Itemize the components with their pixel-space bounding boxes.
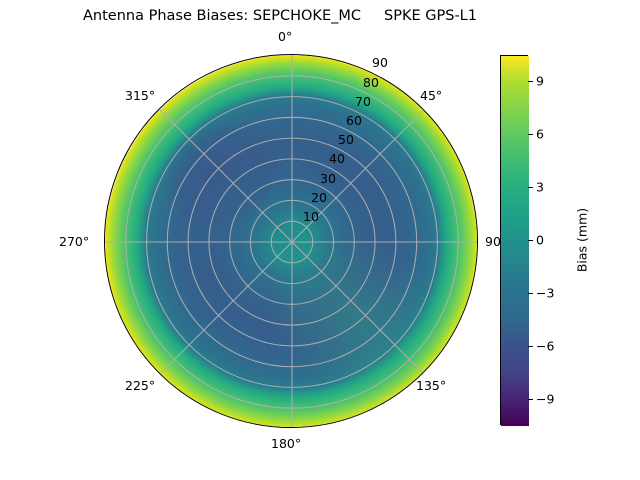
theta-label-180: 180°: [271, 436, 301, 451]
radial-label-20: 20: [311, 190, 327, 205]
polar-contour-surface: [104, 54, 478, 428]
polar-plot[interactable]: 0° 45° 90 135° 180° 225° 270° 315° 10 20…: [104, 54, 478, 428]
colorbar-ticklabel-neg3: −3: [536, 286, 554, 301]
radial-label-40: 40: [329, 151, 345, 166]
radial-label-10: 10: [303, 209, 319, 224]
colorbar-tick-6: [528, 134, 533, 135]
chart-title: Antenna Phase Biases: SEPCHOKE_MC SPKE G…: [0, 8, 560, 24]
colorbar-ticklabel-3: 3: [536, 180, 544, 195]
theta-label-135: 135°: [416, 378, 446, 393]
colorbar-ticklabel-9: 9: [536, 74, 544, 89]
colorbar-ticklabel-neg6: −6: [536, 339, 554, 354]
colorbar-ticklabel-0: 0: [536, 233, 544, 248]
radial-label-50: 50: [338, 132, 354, 147]
colorbar-gradient: [500, 55, 528, 425]
theta-label-45: 45°: [420, 88, 442, 103]
radial-label-60: 60: [346, 113, 362, 128]
colorbar-tick-9: [528, 81, 533, 82]
colorbar-tick-neg6: [528, 346, 533, 347]
theta-label-315: 315°: [125, 88, 155, 103]
colorbar-ticklabel-6: 6: [536, 127, 544, 142]
colorbar-tick-0: [528, 240, 533, 241]
radial-label-80: 80: [363, 75, 379, 90]
theta-label-0: 0°: [278, 29, 292, 44]
radial-label-30: 30: [320, 171, 336, 186]
colorbar-tick-neg3: [528, 293, 533, 294]
radial-label-90: 90: [372, 55, 388, 70]
theta-label-225: 225°: [125, 378, 155, 393]
theta-label-270: 270°: [59, 234, 89, 249]
colorbar-ticklabel-neg9: −9: [536, 392, 554, 407]
radial-label-70: 70: [355, 94, 371, 109]
theta-label-90: 90: [485, 234, 501, 249]
colorbar-tick-neg9: [528, 399, 533, 400]
colorbar-tick-3: [528, 187, 533, 188]
figure-canvas: Antenna Phase Biases: SEPCHOKE_MC SPKE G…: [0, 0, 640, 480]
colorbar[interactable]: 9 6 3 0 −3 −6 −9 Bias (mm): [500, 55, 528, 425]
colorbar-axis-label: Bias (mm): [575, 208, 590, 272]
